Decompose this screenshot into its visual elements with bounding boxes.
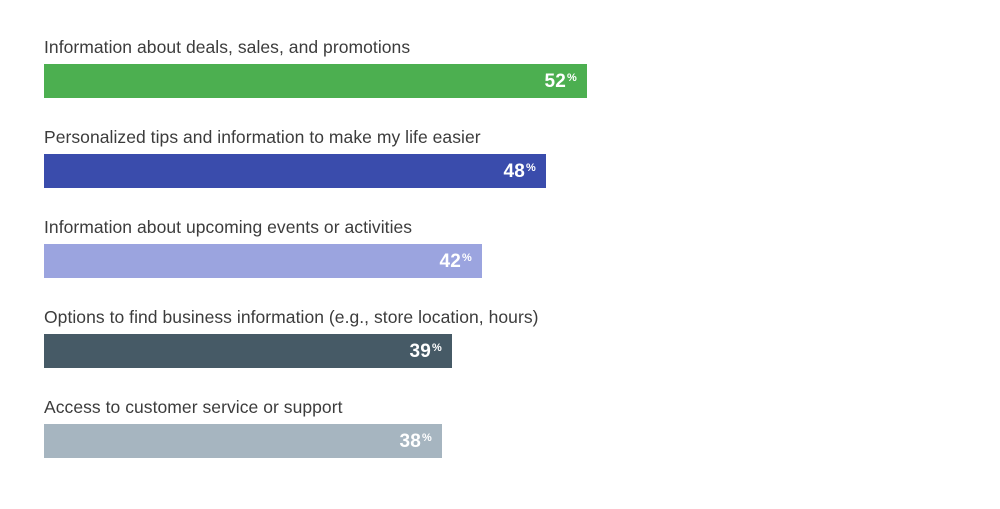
bar-group: Information about deals, sales, and prom… [44,36,410,98]
bar-category-label: Information about upcoming events or act… [44,216,412,238]
bar-group: Options to find business information (e.… [44,306,539,368]
bar-fill[interactable]: 38% [44,424,442,458]
bar-value-label: 38% [399,432,432,451]
bar-category-label: Access to customer service or support [44,396,343,418]
percent-sign: % [567,73,577,84]
bar-fill[interactable]: 39% [44,334,452,368]
bar-track: 48% [44,154,481,188]
bar-value-label: 52% [544,72,577,91]
bar-value-label: 42% [439,252,472,271]
bar-category-label: Personalized tips and information to mak… [44,126,481,148]
bar-track: 52% [44,64,410,98]
horizontal-bar-chart: Information about deals, sales, and prom… [0,0,1000,509]
bar-group: Access to customer service or support 38… [44,396,343,458]
percent-sign: % [422,433,432,444]
bar-track: 38% [44,424,343,458]
bar-fill[interactable]: 42% [44,244,482,278]
bar-group: Information about upcoming events or act… [44,216,412,278]
bar-value-number: 52 [544,72,566,91]
percent-sign: % [526,163,536,174]
percent-sign: % [462,253,472,264]
bar-track: 42% [44,244,412,278]
bar-value-number: 42 [439,252,461,271]
bar-value-label: 48% [503,162,536,181]
bar-fill[interactable]: 52% [44,64,587,98]
bar-value-number: 38 [399,432,421,451]
bar-value-label: 39% [409,342,442,361]
bar-fill[interactable]: 48% [44,154,546,188]
bar-value-number: 39 [409,342,431,361]
bar-category-label: Options to find business information (e.… [44,306,539,328]
bar-group: Personalized tips and information to mak… [44,126,481,188]
bar-category-label: Information about deals, sales, and prom… [44,36,410,58]
bar-track: 39% [44,334,539,368]
percent-sign: % [432,343,442,354]
bar-value-number: 48 [503,162,525,181]
